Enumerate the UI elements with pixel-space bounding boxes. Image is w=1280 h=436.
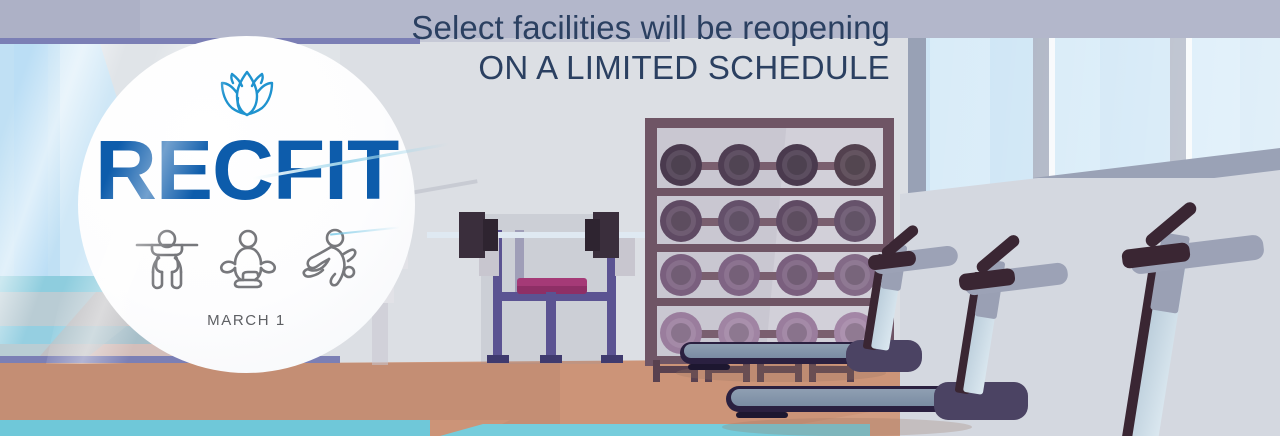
bench-foot-center <box>540 355 562 363</box>
treadmill-2-foot <box>736 412 788 418</box>
headline-line-2: On a limited schedule <box>380 48 890 88</box>
activity-icon-row <box>135 228 359 290</box>
rack-shelf-1 <box>645 188 894 196</box>
brand-wordmark: RECFIT <box>95 128 398 212</box>
yoga-icon <box>217 228 279 290</box>
ceiling-band-shade <box>0 0 140 38</box>
dumbbell-inner <box>666 150 696 180</box>
dumbbell-inner <box>782 150 812 180</box>
dumbbell-inner <box>840 150 870 180</box>
recfit-banner: Select facilities will be reopening On a… <box>0 0 1280 436</box>
dumbbell-r1-3 <box>776 144 818 186</box>
bench-foot-left <box>487 355 509 363</box>
badge-date: MARCH 1 <box>207 312 286 329</box>
floor-mat-left <box>0 420 470 436</box>
bench-center-post <box>546 292 556 360</box>
barbell-collar-right <box>585 219 600 251</box>
rack-post-left <box>645 118 657 366</box>
barbell-collar-left <box>483 219 498 251</box>
running-icon <box>297 228 359 290</box>
headline: Select facilities will be reopening On a… <box>380 8 890 88</box>
bench-press <box>455 200 655 365</box>
rack-foot-cap-1a <box>653 360 660 382</box>
bench-foot-right <box>601 355 623 363</box>
headline-line-1: Select facilities will be reopening <box>380 8 890 48</box>
dumbbell-inner <box>724 150 754 180</box>
rack-top-rail <box>645 118 894 128</box>
recfit-badge: RECFIT <box>78 36 415 373</box>
barbell-plate-left <box>459 212 485 258</box>
weightlifting-icon <box>135 228 199 290</box>
treadmill-3 <box>800 212 1280 436</box>
dumbbell-r1-2 <box>718 144 760 186</box>
dumbbell-r1-1 <box>660 144 702 186</box>
lotus-icon <box>211 66 283 118</box>
dumbbell-r1-4 <box>834 144 876 186</box>
